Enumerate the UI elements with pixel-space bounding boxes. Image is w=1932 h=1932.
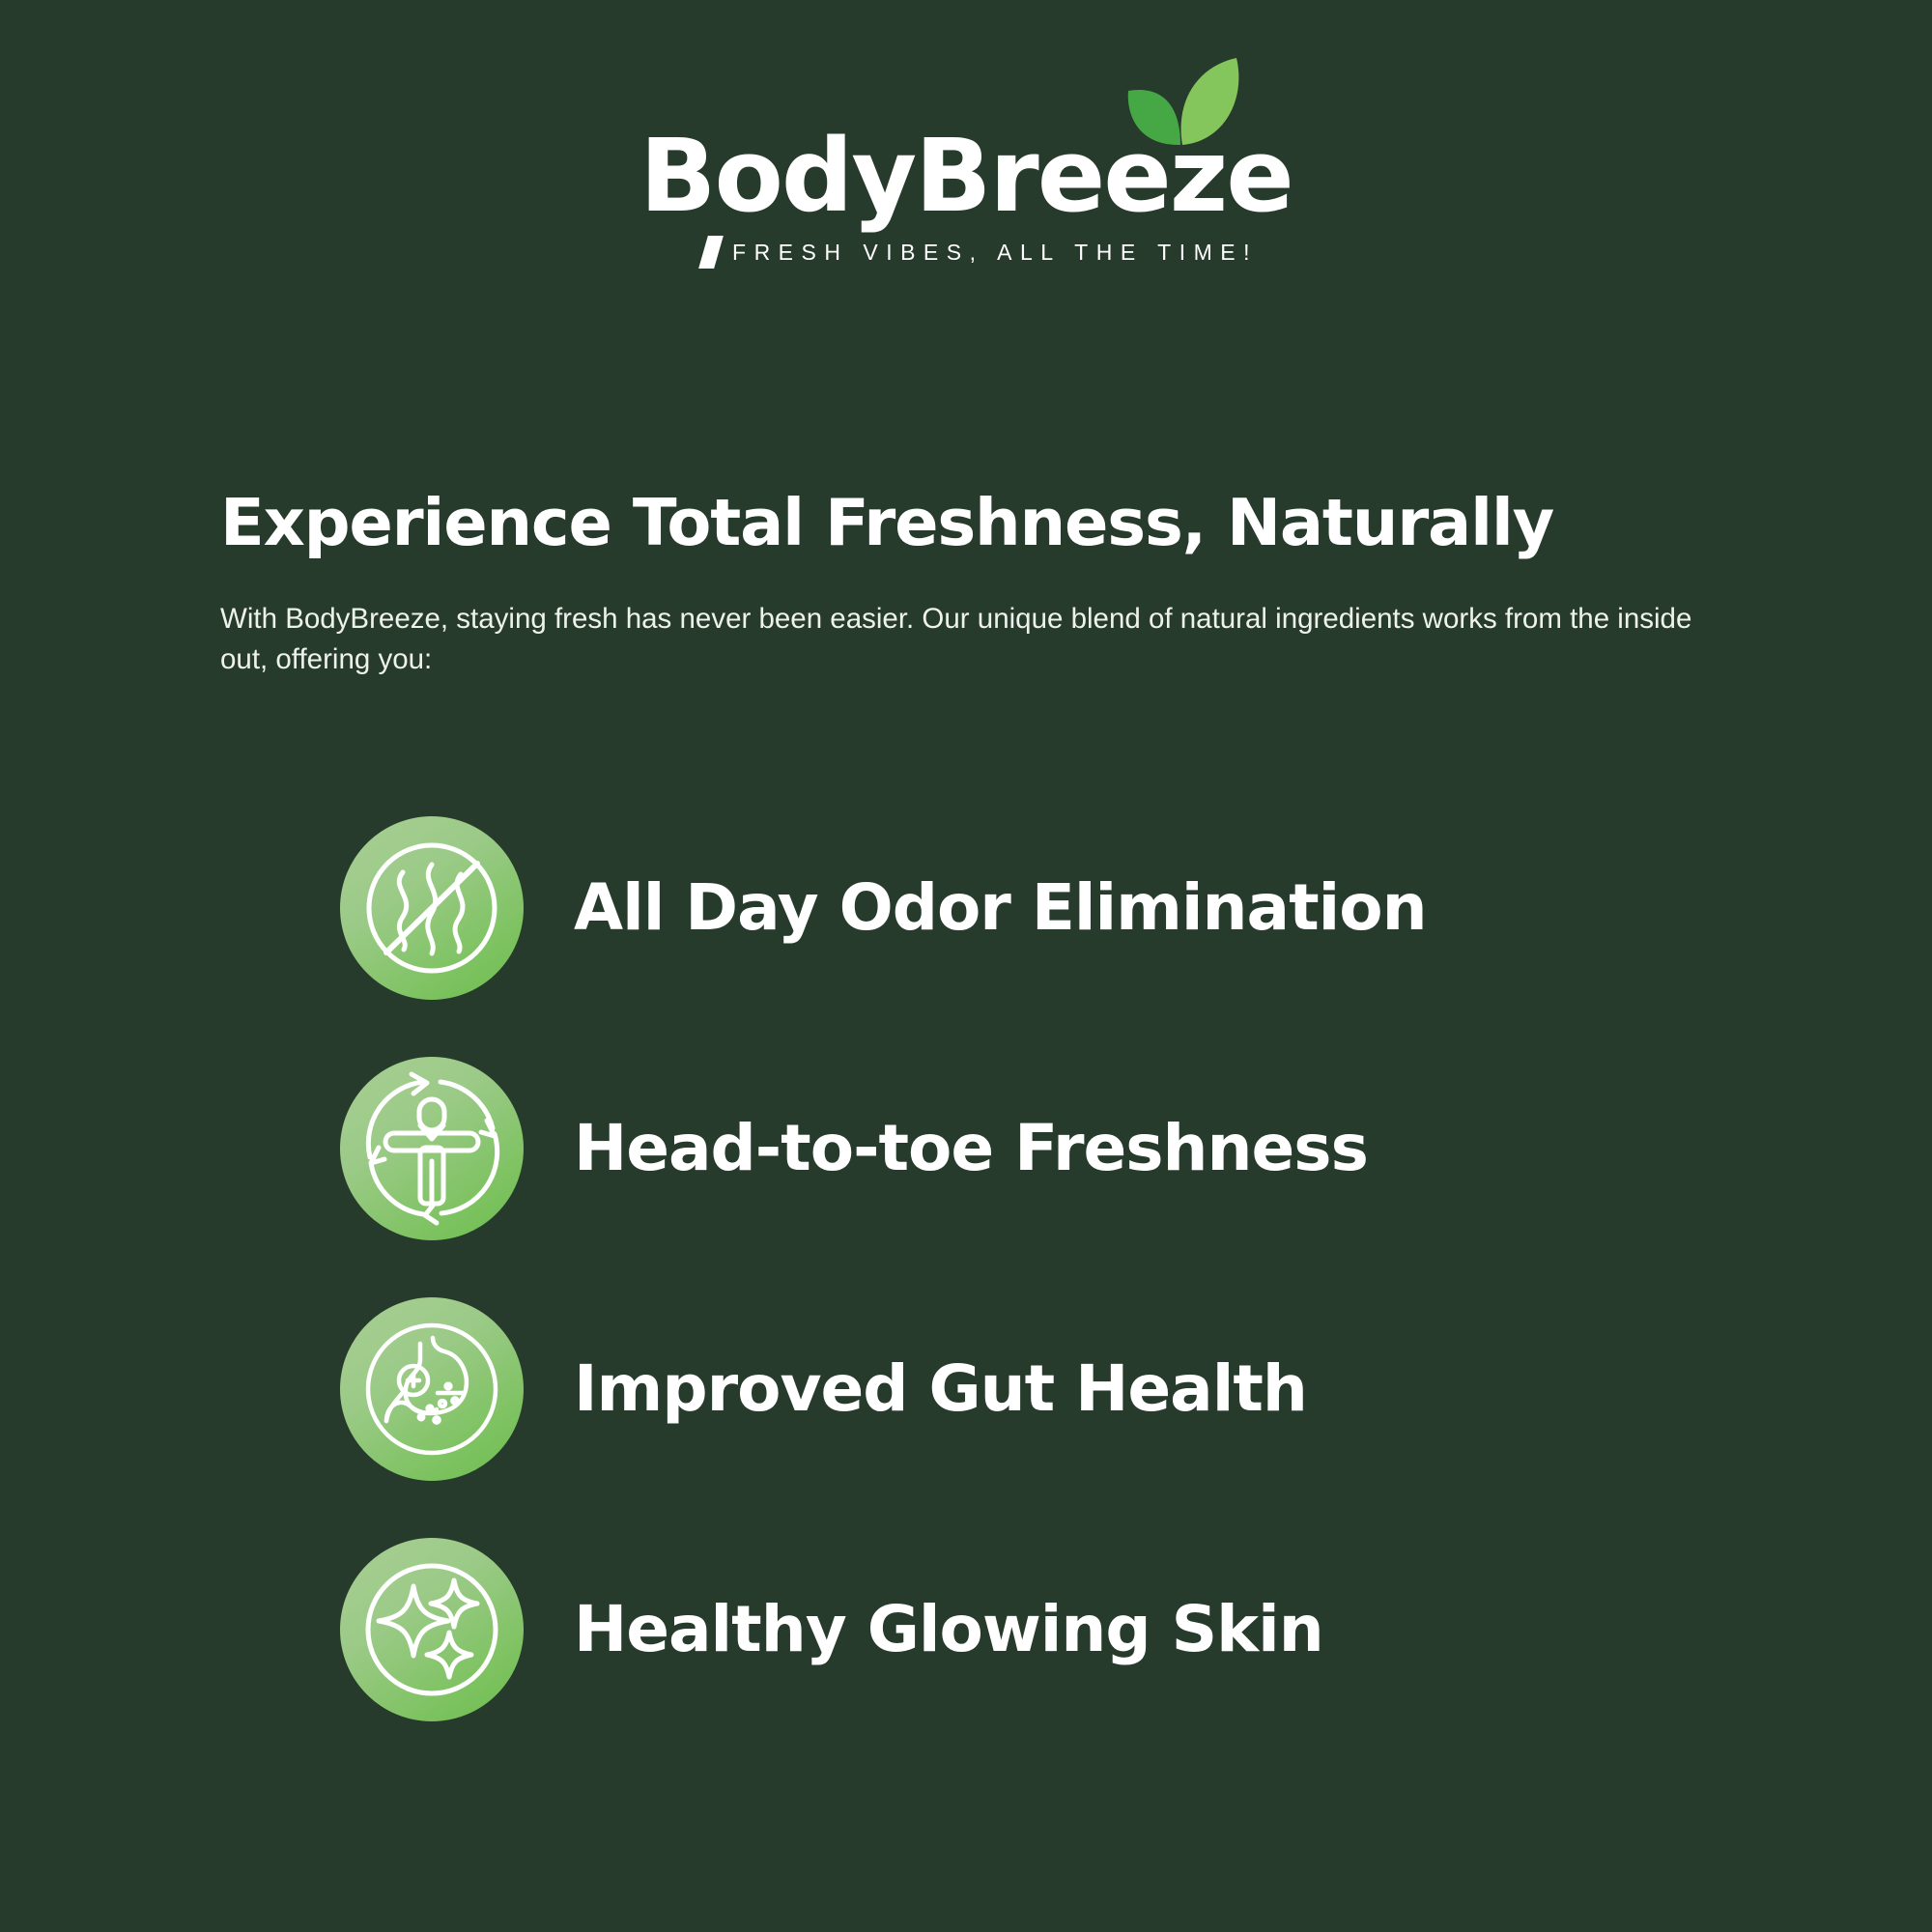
benefits-list: All Day Odor Elimination — [340, 816, 1789, 1721]
promo-poster: BodyBreeze FRESH VIBES, ALL THE TIME! Ex… — [0, 0, 1932, 1932]
logo-wordmark-wrap: BodyBreeze — [639, 126, 1293, 226]
two-leaves-icon — [1119, 56, 1244, 153]
benefit-label: All Day Odor Elimination — [574, 876, 1427, 940]
benefit-label: Head-to-toe Freshness — [574, 1117, 1368, 1180]
list-item: Healthy Glowing Skin — [340, 1538, 1789, 1721]
brand-tagline: FRESH VIBES, ALL THE TIME! — [674, 236, 1258, 269]
stomach-health-icon — [340, 1297, 524, 1481]
benefit-badge — [340, 1057, 524, 1240]
sparkle-icon — [340, 1538, 524, 1721]
benefit-badge — [340, 1538, 524, 1721]
tagline-slash-icon — [698, 236, 724, 269]
page-subcopy: With BodyBreeze, staying fresh has never… — [220, 599, 1718, 680]
brand-logo: BodyBreeze FRESH VIBES, ALL THE TIME! — [0, 126, 1932, 269]
list-item: All Day Odor Elimination — [340, 816, 1789, 1000]
no-odor-icon — [340, 816, 524, 1000]
benefit-badge — [340, 816, 524, 1000]
list-item: Improved Gut Health — [340, 1297, 1789, 1481]
benefit-label: Improved Gut Health — [574, 1357, 1307, 1421]
tagline-text: FRESH VIBES, ALL THE TIME! — [732, 240, 1258, 266]
list-item: Head-to-toe Freshness — [340, 1057, 1789, 1240]
person-refresh-cycle-icon — [340, 1057, 524, 1240]
benefit-label: Healthy Glowing Skin — [574, 1598, 1323, 1662]
page-title: Experience Total Freshness, Naturally — [220, 488, 1785, 557]
benefit-badge — [340, 1297, 524, 1481]
